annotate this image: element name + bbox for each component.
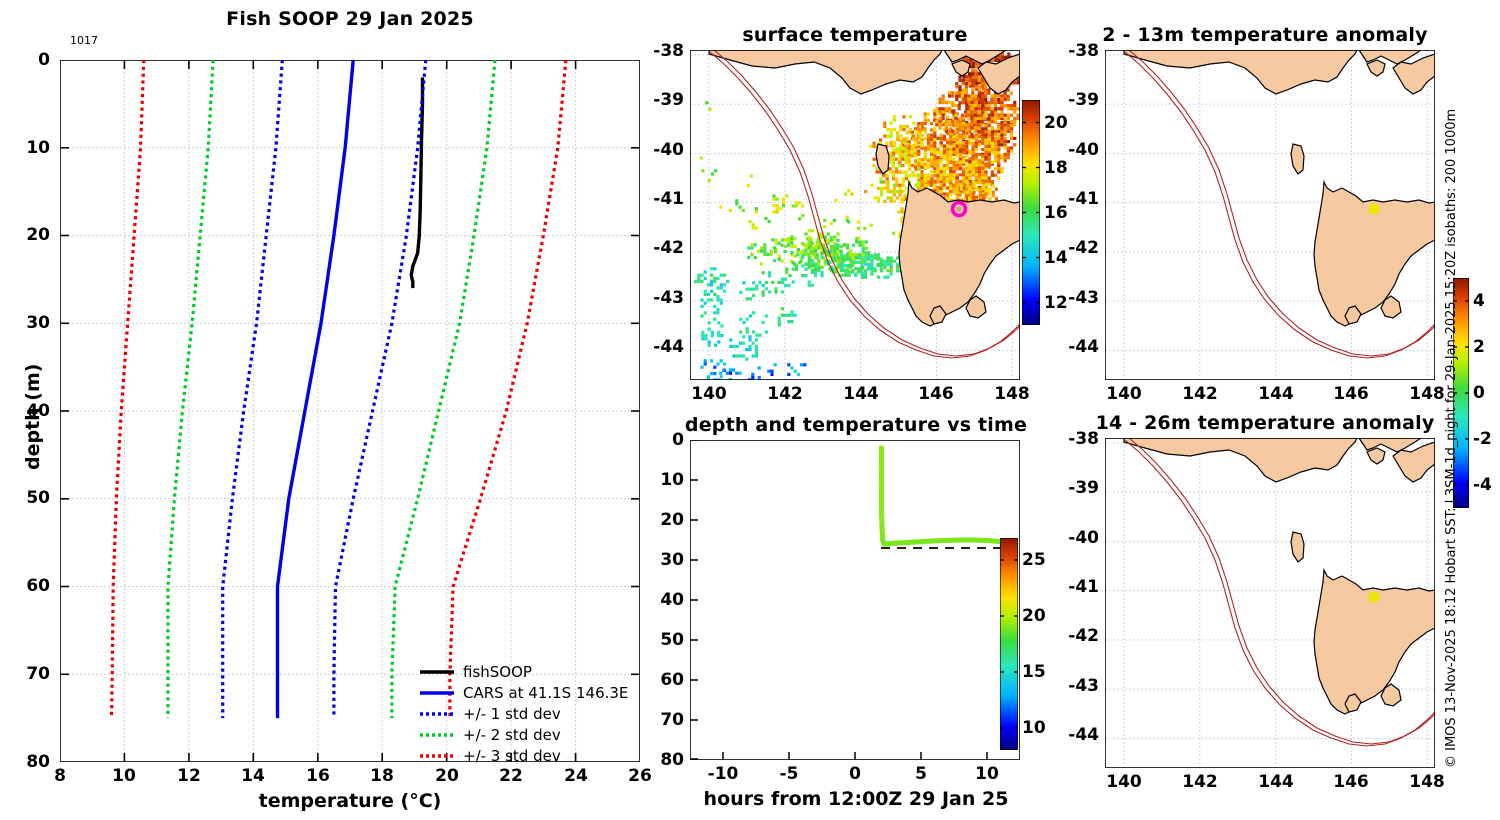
legend-label-cars: CARS at 41.1S 146.3E [463, 684, 628, 702]
anomaly-top-panel-title: 2 - 13m temperature anomaly [1095, 24, 1435, 46]
legend-label-1std: +/- 1 std dev [463, 705, 561, 723]
anombot-ytick--43: -43 [1051, 676, 1099, 696]
sst-panel-title: surface temperature [690, 24, 1020, 46]
ts-ytick-0: 0 [636, 430, 684, 450]
anomtop-ytick--38: -38 [1051, 41, 1099, 61]
anomtop-ytick--43: -43 [1051, 288, 1099, 308]
legend-entry-1std: +/- 1 std dev [418, 703, 636, 724]
ts-xtick-5: 5 [892, 764, 950, 784]
sst-ytick--42: -42 [636, 238, 684, 258]
timeseries-svg [690, 440, 1020, 760]
timeseries-colorbar [1000, 538, 1018, 750]
sst-station-marker-center [956, 206, 961, 211]
anomaly-top-station-marker [1369, 204, 1380, 215]
anomtop-ytick--44: -44 [1051, 337, 1099, 357]
profile-plot-area [60, 60, 640, 762]
profile-xtick-10: 10 [100, 766, 148, 786]
anombot-xtick-144: 144 [1247, 772, 1305, 792]
sst-map [690, 50, 1020, 380]
sst-ytick--43: -43 [636, 288, 684, 308]
sst-ytick--41: -41 [636, 189, 684, 209]
anomaly-bottom-panel-title: 14 - 26m temperature anomaly [1095, 412, 1435, 434]
profile-xtick-16: 16 [294, 766, 342, 786]
anombot-ytick--40: -40 [1051, 528, 1099, 548]
anombot-ytick--42: -42 [1051, 626, 1099, 646]
legend-label-3std: +/- 3 std dev [463, 747, 561, 765]
ts-xtick-10: 10 [958, 764, 1016, 784]
anom-cbtick--2: -2 [1473, 429, 1492, 449]
ts-ytick-30: 30 [636, 550, 684, 570]
ts-cbtick-20: 20 [1022, 606, 1046, 626]
sst-ytick--44: -44 [636, 337, 684, 357]
ts-ytick-50: 50 [636, 630, 684, 650]
anom-cbtick-0: 0 [1473, 383, 1485, 403]
profile-xtick-18: 18 [358, 766, 406, 786]
profile-xtick-24: 24 [552, 766, 600, 786]
ts-xtick--5: -5 [760, 764, 818, 784]
anomaly-bottom-station-marker [1369, 592, 1380, 603]
legend-swatch-3std [418, 749, 456, 763]
anombot-ytick--44: -44 [1051, 725, 1099, 745]
anomaly-top-map [1105, 50, 1435, 380]
legend-swatch-2std [418, 728, 456, 742]
profile-ytick-0: 0 [6, 50, 50, 70]
profile-yaxis-label: depth (m) [22, 364, 44, 470]
timeseries-plot-area [690, 440, 1020, 760]
profile-ytick-30: 30 [6, 313, 50, 333]
sst-xtick-144: 144 [832, 384, 890, 404]
ts-xtick-0: 0 [826, 764, 884, 784]
legend-entry-2std: +/- 2 std dev [418, 724, 636, 745]
anomtop-ytick--40: -40 [1051, 140, 1099, 160]
anom-cbtick--4: -4 [1473, 475, 1492, 495]
profile-ytick-60: 60 [6, 576, 50, 596]
figure-credit-text: © IMOS 13-Nov-2025 18:12 Hobart SST: L3S… [1444, 109, 1459, 768]
profile-ytick-50: 50 [6, 488, 50, 508]
profile-svg [60, 60, 640, 762]
sst-ytick--38: -38 [636, 41, 684, 61]
sst-ytick--40: -40 [636, 140, 684, 160]
sst-colorbar-svg [1022, 100, 1040, 325]
anombot-ytick--38: -38 [1051, 429, 1099, 449]
sst-map-svg [690, 50, 1020, 380]
sst-xtick-146: 146 [907, 384, 965, 404]
profile-panel-title: Fish SOOP 29 Jan 2025 [60, 8, 640, 30]
legend-entry-3std: +/- 3 std dev [418, 745, 636, 766]
ts-cbtick-25: 25 [1022, 550, 1046, 570]
ts-ytick-70: 70 [636, 710, 684, 730]
anomtop-xtick-144: 144 [1247, 384, 1305, 404]
sst-cbtick-20: 20 [1044, 113, 1068, 133]
profile-xaxis-label-text: temperature (°C) [259, 790, 442, 812]
profile-ytick-10: 10 [6, 138, 50, 158]
anomtop-xtick-140: 140 [1095, 384, 1153, 404]
anomaly-bottom-map [1105, 438, 1435, 768]
sst-cbtick-18: 18 [1044, 158, 1068, 178]
ts-ytick-80: 80 [636, 750, 684, 770]
anombot-ytick--39: -39 [1051, 478, 1099, 498]
profile-xtick-14: 14 [229, 766, 277, 786]
legend-swatch-1std [418, 707, 456, 721]
profile-legend: fishSOOP CARS at 41.1S 146.3E +/- 1 std … [418, 661, 636, 766]
sst-xtick-142: 142 [756, 384, 814, 404]
sst-xtick-148: 148 [983, 384, 1041, 404]
ts-ytick-10: 10 [636, 470, 684, 490]
profile-xtick-22: 22 [487, 766, 535, 786]
profile-xaxis-label: temperature (°C) [60, 790, 640, 812]
profile-xtick-8: 8 [36, 766, 84, 786]
profile-xtick-20: 20 [423, 766, 471, 786]
profile-ytick-20: 20 [6, 225, 50, 245]
timeseries-colorbar-svg [1000, 538, 1018, 750]
legend-label-2std: +/- 2 std dev [463, 726, 561, 744]
sst-xtick-140: 140 [680, 384, 738, 404]
anomtop-ytick--42: -42 [1051, 238, 1099, 258]
timeseries-xaxis-label: hours from 12:00Z 29 Jan 25 [676, 788, 1036, 810]
ts-ytick-60: 60 [636, 670, 684, 690]
profile-corner-number: 1017 [70, 34, 98, 47]
anomtop-xtick-146: 146 [1322, 384, 1380, 404]
anombot-xtick-140: 140 [1095, 772, 1153, 792]
sst-ytick--39: -39 [636, 90, 684, 110]
anomtop-ytick--39: -39 [1051, 90, 1099, 110]
anomaly-top-svg [1105, 50, 1435, 380]
anombot-xtick-142: 142 [1171, 772, 1229, 792]
ts-cbtick-15: 15 [1022, 662, 1046, 682]
ts-xtick--10: -10 [694, 764, 752, 784]
sst-colorbar [1022, 100, 1040, 325]
profile-ytick-70: 70 [6, 664, 50, 684]
legend-entry-cars: CARS at 41.1S 146.3E [418, 682, 636, 703]
legend-swatch-fishsoop [418, 665, 456, 679]
anombot-ytick--41: -41 [1051, 577, 1099, 597]
anom-cbtick-2: 2 [1473, 337, 1485, 357]
profile-xtick-12: 12 [165, 766, 213, 786]
legend-entry-fishsoop: fishSOOP [418, 661, 636, 682]
anomaly-bottom-svg [1105, 438, 1435, 768]
legend-swatch-cars [418, 686, 456, 700]
ts-ytick-40: 40 [636, 590, 684, 610]
timeseries-panel-title: depth and temperature vs time [676, 414, 1036, 436]
ts-ytick-20: 20 [636, 510, 684, 530]
anombot-xtick-148: 148 [1398, 772, 1456, 792]
anomtop-xtick-142: 142 [1171, 384, 1229, 404]
ts-cbtick-10: 10 [1022, 718, 1046, 738]
anomtop-ytick--41: -41 [1051, 189, 1099, 209]
legend-label-fishsoop: fishSOOP [463, 663, 532, 681]
anom-cbtick-4: 4 [1473, 291, 1485, 311]
anombot-xtick-146: 146 [1322, 772, 1380, 792]
